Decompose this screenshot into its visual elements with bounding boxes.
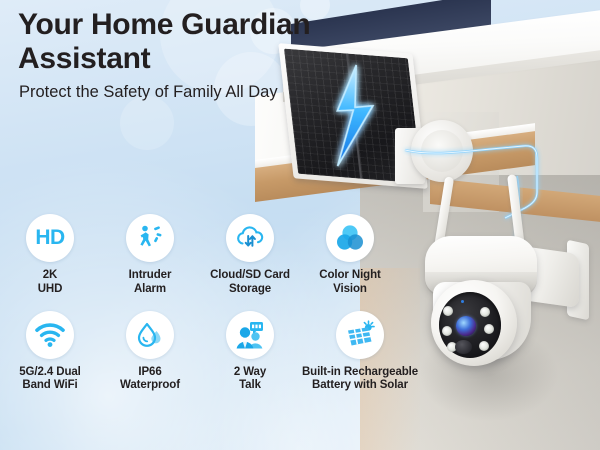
camera-status-led	[461, 300, 464, 303]
solar-panel-battery-icon	[344, 320, 376, 350]
camera-ir-led	[480, 307, 490, 317]
feature-label-line1: Cloud/SD Card	[210, 269, 290, 283]
feature-icon-circle	[336, 311, 384, 359]
feature-label-line1: Built-in Rechargeable	[302, 366, 418, 380]
page-title: Your Home Guardian Assistant	[18, 8, 348, 75]
feature-item-ip66-waterproof: IP66 Waterproof	[100, 311, 200, 394]
camera-pir-sensor	[455, 340, 472, 354]
solar-panel-mount-inner	[421, 130, 463, 172]
feature-row-2: 5G/2.4 Dual Band WiFi IP66 Waterproof	[0, 311, 420, 394]
feature-item-dual-band-wifi: 5G/2.4 Dual Band WiFi	[0, 311, 100, 394]
feature-label-line2: Battery with Solar	[302, 379, 418, 393]
feature-label-line2: UHD	[38, 283, 63, 297]
feature-label-line1: Intruder	[129, 269, 172, 283]
feature-row-1: HD 2K UHD	[0, 214, 420, 297]
feature-label-line2: Talk	[234, 379, 266, 393]
lens-flare-bubble	[120, 96, 174, 150]
feature-label: Intruder Alarm	[129, 269, 172, 297]
feature-label: 5G/2.4 Dual Band WiFi	[19, 366, 81, 394]
feature-item-two-way-talk: 2 Way Talk	[200, 311, 300, 394]
wifi-icon	[34, 322, 66, 348]
feature-label: Built-in Rechargeable Battery with Solar	[302, 366, 418, 394]
feature-label-line1: 2K	[38, 269, 63, 283]
feature-item-intruder-alarm: Intruder Alarm	[100, 214, 200, 297]
page-subtitle: Protect the Safety of Family All Day	[19, 82, 319, 103]
camera-ir-led	[443, 306, 453, 316]
feature-label: Cloud/SD Card Storage	[210, 269, 290, 297]
feature-icon-circle	[126, 311, 174, 359]
feature-label-line2: Alarm	[129, 283, 172, 297]
two-way-talk-icon	[234, 320, 266, 350]
walking-person-motion-icon	[134, 222, 166, 254]
feature-label-line1: 5G/2.4 Dual	[19, 366, 81, 380]
water-droplet-icon	[134, 319, 166, 351]
feature-icon-circle	[126, 214, 174, 262]
feature-icon-circle	[226, 311, 274, 359]
feature-label-line1: 2 Way	[234, 366, 266, 380]
product-marketing-poster: Your Home Guardian Assistant Protect the…	[0, 0, 600, 450]
feature-label: 2 Way Talk	[234, 366, 266, 394]
feature-icon-circle: HD	[26, 214, 74, 262]
feature-icon-circle	[226, 214, 274, 262]
feature-label-line1: IP66	[120, 366, 180, 380]
feature-label: IP66 Waterproof	[120, 366, 180, 394]
feature-label-line1: Color Night	[319, 269, 381, 283]
feature-label-line2: Band WiFi	[19, 379, 81, 393]
feature-label: Color Night Vision	[319, 269, 381, 297]
feature-icon-circle	[26, 311, 74, 359]
feature-item-2k-uhd: HD 2K UHD	[0, 214, 100, 297]
feature-icon-circle	[326, 214, 374, 262]
camera-lens	[456, 316, 476, 336]
feature-item-cloud-sd-storage: Cloud/SD Card Storage	[200, 214, 300, 297]
feature-item-solar-battery: Built-in Rechargeable Battery with Solar	[300, 311, 420, 394]
feature-label-line2: Vision	[319, 283, 381, 297]
feature-label: 2K UHD	[38, 269, 63, 297]
camera-ir-led	[479, 341, 489, 351]
feature-label-line2: Storage	[210, 283, 290, 297]
feature-label-line2: Waterproof	[120, 379, 180, 393]
camera-ir-led	[484, 324, 494, 334]
security-camera	[425, 176, 600, 391]
camera-ir-led	[442, 326, 452, 336]
feature-grid: HD 2K UHD	[0, 214, 420, 393]
hd-icon: HD	[35, 226, 64, 250]
cloud-sd-storage-icon	[233, 223, 267, 253]
feature-item-color-night-vision: Color Night Vision	[300, 214, 400, 297]
color-night-vision-icon	[334, 222, 366, 254]
